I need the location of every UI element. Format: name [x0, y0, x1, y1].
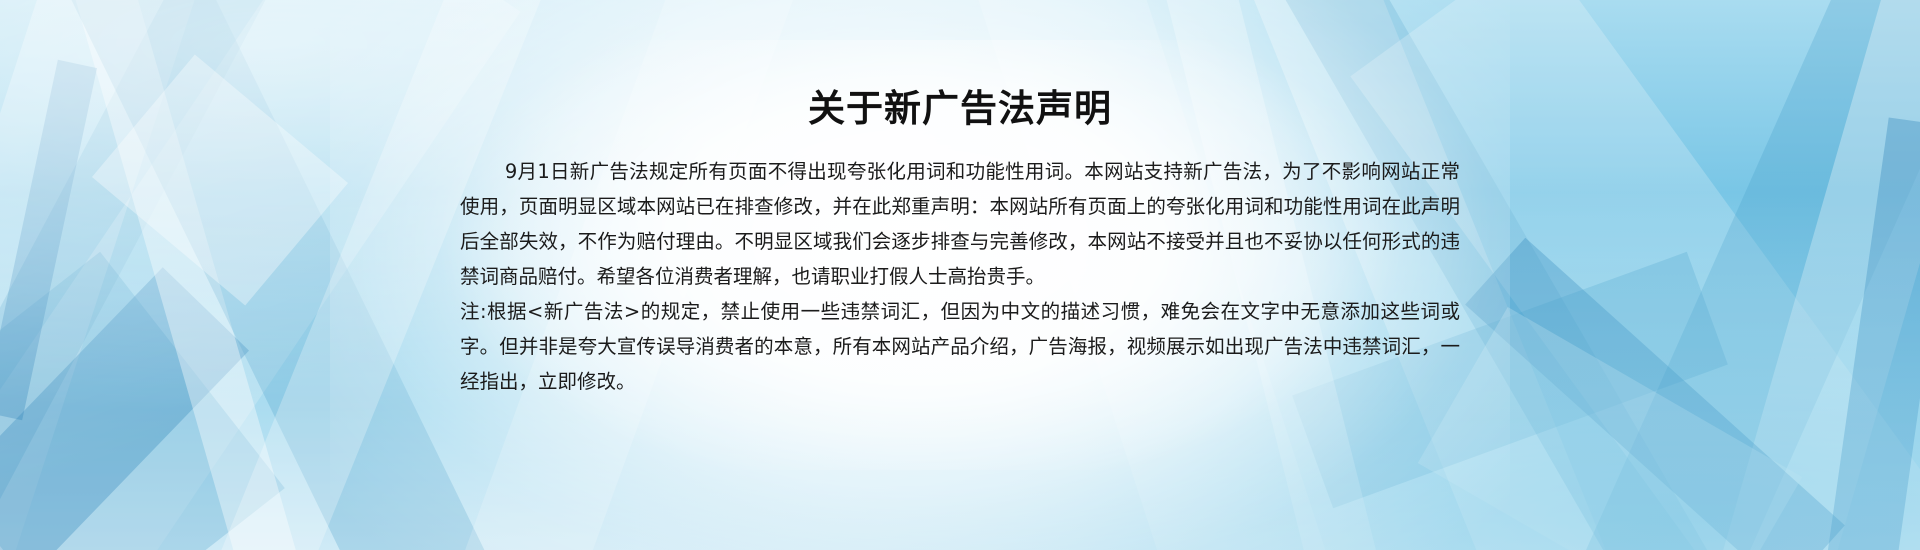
banner-content: 关于新广告法声明 9月1日新广告法规定所有页面不得出现夸张化用词和功能性用词。本… — [0, 0, 1920, 550]
advertising-law-statement-banner: 关于新广告法声明 9月1日新广告法规定所有页面不得出现夸张化用词和功能性用词。本… — [0, 0, 1920, 550]
statement-paragraph-1: 9月1日新广告法规定所有页面不得出现夸张化用词和功能性用词。本网站支持新广告法，… — [460, 154, 1460, 294]
statement-block: 关于新广告法声明 9月1日新广告法规定所有页面不得出现夸张化用词和功能性用词。本… — [460, 86, 1460, 399]
page-title: 关于新广告法声明 — [460, 86, 1460, 132]
statement-paragraph-2: 注:根据<新广告法>的规定，禁止使用一些违禁词汇，但因为中文的描述习惯，难免会在… — [460, 294, 1460, 399]
